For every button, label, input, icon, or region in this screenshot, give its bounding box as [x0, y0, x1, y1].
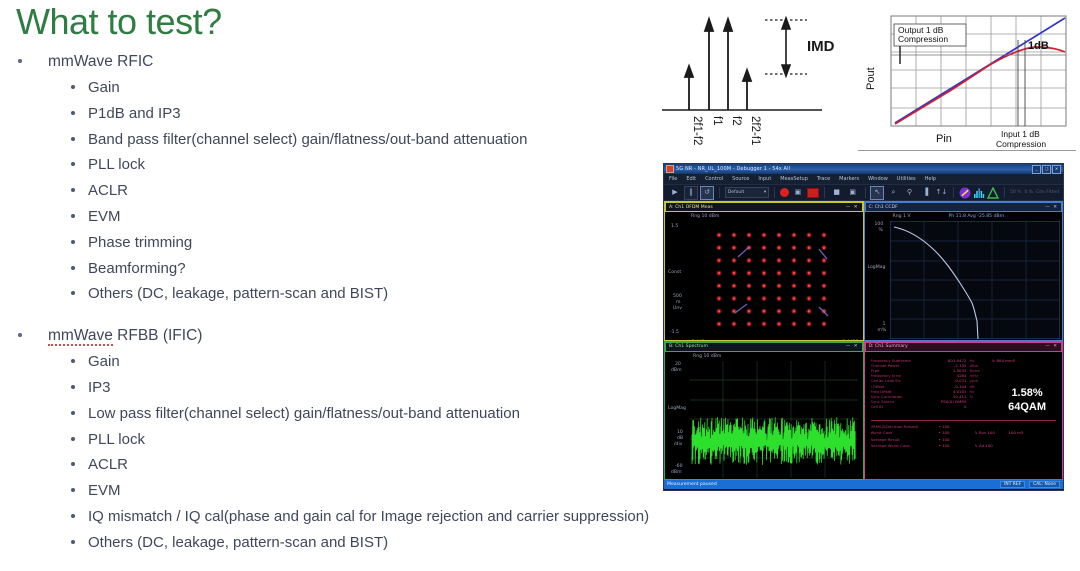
pane-b-ybottom-1: -60 [675, 464, 683, 469]
bullet-dot-icon [71, 385, 75, 389]
pane-ofdm-meas[interactable]: A: Ch1 OFDM Meas — ✕ Rng 10 dBm 1.5 Cons… [664, 201, 864, 341]
list-item-level2: ACLR [10, 178, 670, 204]
list-item-label: P1dB and IP3 [88, 105, 181, 122]
outline-spacer [10, 307, 670, 324]
summary-row: Average Worst Case• 100↳ Ad 100 [871, 443, 1046, 450]
menu-item-help[interactable]: Help [925, 176, 936, 182]
stop-icon[interactable] [807, 188, 819, 198]
status-chip-cal[interactable]: CAL: None [1029, 481, 1060, 488]
toolbar-separator [1004, 187, 1005, 198]
pane-a-ymid-1: 500 [673, 294, 682, 299]
pane-c-range: Rng 1 V [893, 214, 911, 219]
constellation-trace-icon[interactable] [959, 187, 971, 199]
status-chips: INT REF CAL: None [1000, 481, 1060, 488]
pane-c-ytop-1: 100 [875, 222, 884, 227]
menu-item-window[interactable]: Window [868, 176, 888, 182]
pane-b-ylabel: LogMag [668, 406, 686, 411]
pane-tab-c[interactable]: C: Ch1 CCDF — ✕ [865, 202, 1063, 212]
imd-label: IMD [807, 38, 835, 55]
bullet-dot-icon [71, 411, 75, 415]
toolbar-separator [953, 187, 954, 198]
outline-body: mmWave RFIC Gain P1dB and IP3 Band pass … [10, 50, 670, 556]
pane-tab-c-label: C: Ch1 CCDF [869, 205, 898, 210]
maximize-button[interactable]: ❑ [1042, 165, 1051, 174]
list-item-label: Phase trimming [88, 234, 192, 251]
pane-tab-a-label: A: Ch1 OFDM Meas [669, 205, 713, 210]
constellation-plot [689, 221, 857, 338]
bullet-dot-icon [71, 188, 75, 192]
tone-label-2f1-f2: 2f1-f2 [691, 116, 703, 145]
ccdf-plot [890, 221, 1060, 339]
list-item-level2: P1dB and IP3 [10, 101, 670, 127]
bullet-dot-icon [71, 540, 75, 544]
pane-tab-c-controls[interactable]: — ✕ [1045, 205, 1058, 210]
menu-item-meassetup[interactable]: MeasSetup [780, 176, 808, 182]
pane-spectrum[interactable]: B: Ch1 Spectrum — ✕ Rng 10 dBm 20 dBm Lo… [664, 341, 864, 481]
single-pane-icon[interactable]: ■ [830, 186, 844, 200]
tone-label-f1: f1 [711, 116, 723, 126]
app-icon [666, 165, 674, 173]
pane-a-ylabel: Const [668, 270, 681, 275]
input-compression-label-line1: Input 1 dB [1001, 129, 1040, 139]
tool-bar[interactable]: ▶ ‖ ↺ Default ▾ ▣ ■ ▣ ↖ ⌕ [664, 185, 1063, 201]
pane-b-range: Rng 10 dBm [693, 354, 721, 359]
pane-tab-a[interactable]: A: Ch1 OFDM Meas — ✕ [665, 202, 863, 212]
bullet-dot-icon [71, 462, 75, 466]
menu-bar[interactable]: File Edit Control Source Input MeasSetup… [664, 174, 1063, 185]
list-item-level1: mmWave RFIC [10, 50, 670, 73]
slide-root: What to test? mmWave RFIC Gain P1dB and … [0, 0, 1080, 571]
toolbar-separator [824, 187, 825, 198]
list-item-level2: PLL lock [10, 427, 670, 453]
bullet-dot-icon [71, 488, 75, 492]
pane-a-range: Rng 10 dBm [691, 214, 719, 219]
list-item-label: Others (DC, leakage, pattern-scan and BI… [88, 534, 388, 551]
minimize-button[interactable]: _ [1032, 165, 1041, 174]
window-title: 5G NR - NR_UL_100M - Debugger 1 - 54x Al… [676, 166, 1032, 172]
pane-tab-b-controls[interactable]: — ✕ [846, 344, 859, 349]
bullet-dot-icon [71, 240, 75, 244]
list-item-level2: EVM [10, 204, 670, 230]
input-compression-label-line2: Compression [996, 139, 1046, 149]
one-db-delta-label: 1dB [1028, 40, 1049, 52]
toolbar-status-1: 50 % [1010, 190, 1021, 195]
preset-dropdown-value: Default [728, 190, 744, 195]
list-item-level2: Others (DC, leakage, pattern-scan and BI… [10, 281, 670, 307]
pane-b-ymid-1: 10 [677, 430, 683, 435]
bullet-dot-icon [71, 111, 75, 115]
instrument-window[interactable]: 5G NR - NR_UL_100M - Debugger 1 - 54x Al… [663, 163, 1064, 491]
bullet-dot-icon [71, 214, 75, 218]
close-button[interactable]: ✕ [1052, 165, 1061, 174]
chevron-down-icon: ▾ [764, 190, 766, 195]
pane-a-ytop: 1.5 [671, 224, 678, 229]
modulation-value: 64QAM [1008, 400, 1046, 414]
pane-b-ytop-1: 20 [675, 362, 681, 367]
bullet-dot-icon [71, 291, 75, 295]
list-item-label: mmWave RFIC [48, 53, 153, 70]
list-item-level2: Low pass filter(channel select) gain/fla… [10, 401, 670, 427]
toolbar-separator [865, 187, 866, 198]
imd-spectrum-figure: IMD 2f1-f2 f1 f2 2f2-f1 [657, 2, 857, 154]
list-item-label: Gain [88, 353, 120, 370]
list-item-level2: Band pass filter(channel select) gain/fl… [10, 127, 670, 153]
toolbar-status-2: 0 % [1024, 190, 1033, 195]
list-item-level2: IP3 [10, 375, 670, 401]
window-titlebar[interactable]: 5G NR - NR_UL_100M - Debugger 1 - 54x Al… [664, 164, 1063, 174]
pane-tab-b-label: B: Ch1 Spectrum [669, 344, 708, 349]
capture-icon[interactable]: ▣ [791, 186, 805, 200]
bullet-dot-icon [71, 162, 75, 166]
pane-a-body[interactable]: Rng 10 dBm 1.5 Const 500 m Unv -1.5 -2.4… [665, 212, 863, 340]
bullet-dot-icon [71, 359, 75, 363]
list-item-label: EVM [88, 208, 121, 225]
imd-spectrum-svg: IMD 2f1-f2 f1 f2 2f2-f1 [657, 2, 857, 154]
bullet-dot-icon [18, 59, 22, 63]
marker-icon[interactable]: ⚲ [902, 186, 916, 200]
pane-b-ybottom-2: dBm [671, 470, 682, 475]
list-item-label: Others (DC, leakage, pattern-scan and BI… [88, 285, 388, 302]
pane-tab-d[interactable]: D: Ch1 Summary — ✕ [865, 342, 1063, 352]
pointer-icon[interactable]: ↖ [870, 186, 884, 200]
list-item-level1: mmWave RFBB (IFIC) [10, 324, 670, 347]
menu-item-source[interactable]: Source [732, 176, 749, 182]
list-item-level2: IQ mismatch / IQ cal(phase and gain cal … [10, 504, 670, 530]
pane-tab-a-controls[interactable]: — ✕ [846, 205, 859, 210]
list-item-level2: PLL lock [10, 152, 670, 178]
menu-item-input[interactable]: Input [758, 176, 771, 182]
pause-icon[interactable]: ‖ [684, 186, 698, 200]
play-icon[interactable]: ▶ [668, 186, 682, 200]
list-item-label: PLL lock [88, 156, 145, 173]
bullet-dot-icon [71, 514, 75, 518]
pane-c-ybottom-2: m% [878, 328, 887, 333]
evm-readout: 1.58% 64QAM [1008, 386, 1046, 414]
bullet-dot-icon [18, 333, 22, 337]
pane-ccdf[interactable]: C: Ch1 CCDF — ✕ Rng 1 V Ph 11.8 Avg -25.… [864, 201, 1064, 341]
zoom-icon[interactable]: ⌕ [886, 186, 900, 200]
tone-label-2f2-f1: 2f2-f1 [749, 116, 761, 145]
toolbar-status-3: Cdn Fitted [1036, 190, 1059, 195]
pane-grid: A: Ch1 OFDM Meas — ✕ Rng 10 dBm 1.5 Cons… [664, 201, 1063, 480]
tone-label-f2: f2 [730, 116, 742, 126]
marker-controls[interactable]: ↖ ⌕ ⚲ ▐ ↑↓ [870, 186, 948, 200]
pane-b-body[interactable]: Rng 10 dBm 20 dBm LogMag 10 dB /div -60 … [665, 352, 863, 480]
output-compression-label-line2: Compression [898, 34, 948, 44]
multi-pane-icon[interactable]: ▣ [846, 186, 860, 200]
pane-a-ymid-3: Unv [673, 306, 682, 311]
pane-c-ylabel: LogMag [868, 265, 886, 270]
status-bar: Measurement paused INT REF CAL: None [664, 480, 1063, 489]
pane-c-body[interactable]: Rng 1 V Ph 11.8 Avg -25.85 dBm 100 % Log… [865, 212, 1063, 340]
pane-tab-d-controls[interactable]: — ✕ [1045, 344, 1058, 349]
ccdf-trace-icon[interactable] [987, 187, 999, 199]
evm-value: 1.58% [1008, 386, 1046, 400]
transport-controls[interactable]: ▶ ‖ ↺ [668, 186, 714, 200]
toolbar-separator [774, 187, 775, 198]
pane-c-ybottom-1: 1 [883, 322, 886, 327]
menu-item-edit[interactable]: Edit [686, 176, 696, 182]
list-item-label: ACLR [88, 456, 128, 473]
list-item-level2: Others (DC, leakage, pattern-scan and BI… [10, 530, 670, 556]
p1db-compression-figure: Output 1 dB Compression 1dB Input 1 dB C… [858, 2, 1076, 152]
list-item-level2: Gain [10, 75, 670, 101]
menu-item-utilities[interactable]: Utilities [897, 176, 916, 182]
misspelled-word: mmWave [48, 327, 113, 346]
spectrum-trace-icon[interactable] [973, 187, 985, 199]
list-item-label: PLL lock [88, 431, 145, 448]
record-controls[interactable]: ▣ [780, 186, 819, 200]
list-item-label: Gain [88, 79, 120, 96]
menu-item-control[interactable]: Control [705, 176, 723, 182]
list-item-level2: Gain [10, 349, 670, 375]
list-item-label: Beamforming? [88, 260, 186, 277]
menu-item-markers[interactable]: Markers [839, 176, 859, 182]
list-item-level2: ACLR [10, 452, 670, 478]
menu-item-trace[interactable]: Trace [817, 176, 830, 182]
list-item-label: IQ mismatch / IQ cal(phase and gain cal … [88, 508, 649, 525]
list-item-label: RFBB (IFIC) [113, 327, 203, 344]
pane-c-topcenter: Ph 11.8 Avg -25.85 dBm [949, 214, 1005, 219]
list-item-label: IP3 [88, 379, 111, 396]
window-controls[interactable]: _ ❑ ✕ [1032, 165, 1061, 174]
list-item-level2: EVM [10, 478, 670, 504]
menu-item-file[interactable]: File [669, 176, 677, 182]
status-message: Measurement paused [667, 482, 717, 487]
toolbar-separator [719, 187, 720, 198]
preset-dropdown[interactable]: Default ▾ [725, 187, 769, 198]
pane-summary[interactable]: D: Ch1 Summary — ✕ Frequency Subframe801… [864, 341, 1064, 481]
pane-b-ymid-2: dB [677, 436, 683, 441]
list-item-label: ACLR [88, 182, 128, 199]
restart-icon[interactable]: ↺ [700, 186, 714, 200]
pane-a-ymid-2: m [676, 300, 680, 305]
list-item-label: Band pass filter(channel select) gain/fl… [88, 131, 527, 148]
p1db-ylabel: Pout [865, 67, 877, 90]
pane-tab-d-label: D: Ch1 Summary [869, 344, 908, 349]
spectrum-plot [690, 361, 858, 478]
pane-d-body[interactable]: Frequency Subframe801.0472Hz4: 884.mm5Ch… [865, 352, 1063, 480]
peak-search-icon[interactable]: ↑↓ [934, 186, 948, 200]
pane-a-ybottom: -1.5 [670, 330, 679, 335]
record-icon[interactable] [780, 188, 789, 197]
page-title: What to test? [16, 2, 222, 42]
p1db-xlabel: Pin [936, 133, 952, 145]
list-item-label: EVM [88, 482, 121, 499]
bullet-dot-icon [71, 137, 75, 141]
list-item-label: Low pass filter(channel select) gain/fla… [88, 405, 520, 422]
bars-icon[interactable]: ▐ [918, 186, 932, 200]
list-item-level2: Beamforming? [10, 256, 670, 282]
status-chip-intref[interactable]: INT REF [1000, 481, 1025, 488]
bullet-dot-icon [71, 437, 75, 441]
pane-tab-b[interactable]: B: Ch1 Spectrum — ✕ [665, 342, 863, 352]
bullet-dot-icon [71, 85, 75, 89]
bullet-dot-icon [71, 266, 75, 270]
pane-c-ytop-2: % [879, 228, 883, 233]
list-item-level2: Phase trimming [10, 230, 670, 256]
pane-b-ymid-3: /div [674, 442, 682, 447]
display-controls[interactable]: ■ ▣ [830, 186, 860, 200]
pane-b-ytop-2: dBm [671, 368, 682, 373]
trace-type-controls[interactable] [959, 187, 999, 199]
p1db-compression-svg: Output 1 dB Compression 1dB Input 1 dB C… [858, 2, 1076, 152]
